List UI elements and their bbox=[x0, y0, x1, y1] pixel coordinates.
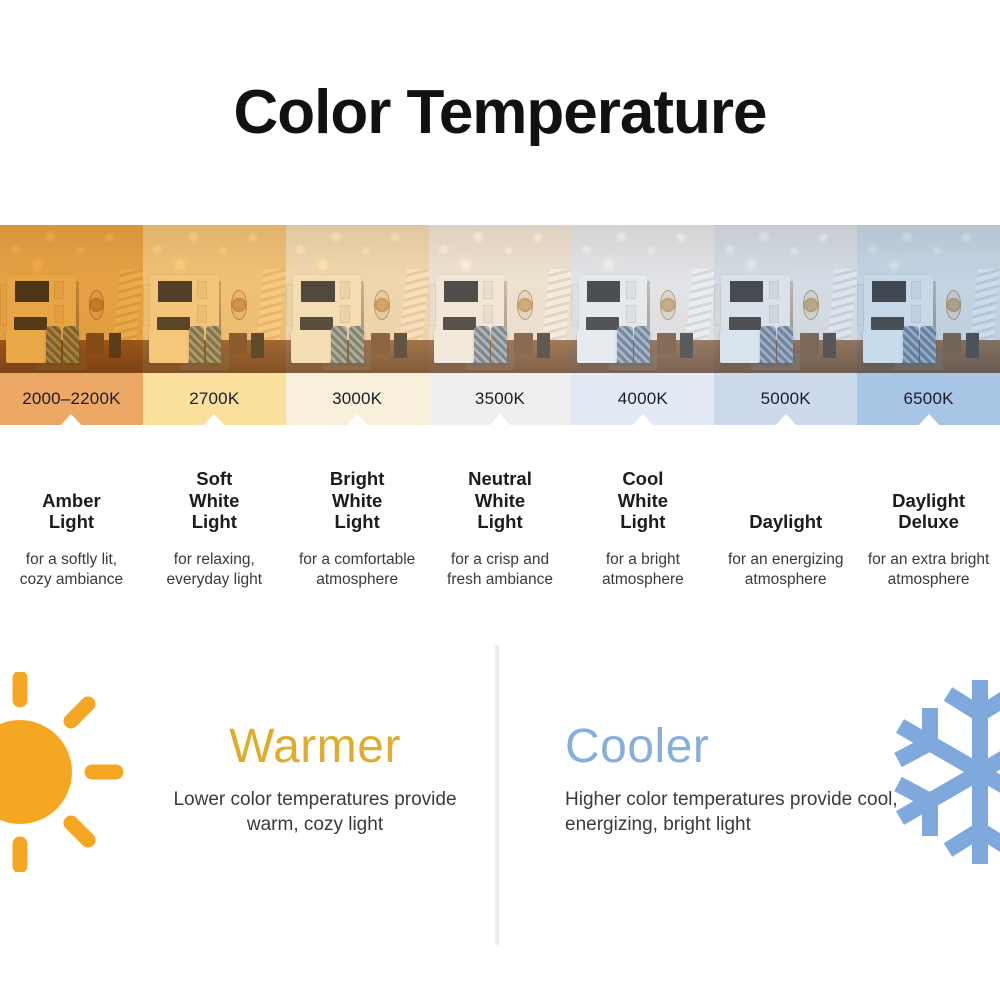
light-type-name-line: White bbox=[294, 490, 421, 512]
room-photo-5000K bbox=[714, 225, 857, 373]
light-type-name: AmberLight bbox=[8, 455, 135, 533]
room-photo-3000K bbox=[286, 225, 429, 373]
light-type-name-line: Light bbox=[294, 511, 421, 533]
light-type-name-line: Amber bbox=[8, 490, 135, 512]
light-type-description: for an energizing atmosphere bbox=[722, 550, 849, 590]
light-type-name: BrightWhiteLight bbox=[294, 455, 421, 533]
light-type-name-line: Cool bbox=[579, 468, 706, 490]
light-type-description: for a crisp and fresh ambiance bbox=[437, 550, 564, 590]
photo-light-overlay bbox=[0, 225, 143, 373]
kelvin-swatch-3000K[interactable]: 3000K bbox=[286, 373, 429, 425]
kelvin-swatch-3500K[interactable]: 3500K bbox=[429, 373, 572, 425]
light-type-name-line: Daylight bbox=[722, 511, 849, 533]
kelvin-label: 5000K bbox=[761, 389, 811, 409]
photo-light-overlay bbox=[429, 225, 572, 373]
swatch-pointer-notch bbox=[489, 414, 511, 426]
room-photo-6500K bbox=[857, 225, 1000, 373]
light-type-name-line: White bbox=[151, 490, 278, 512]
light-type-description: for an extra bright atmosphere bbox=[865, 550, 992, 590]
light-type-name: SoftWhiteLight bbox=[151, 455, 278, 533]
swatch-pointer-notch bbox=[775, 414, 797, 426]
room-photo-20002200K bbox=[0, 225, 143, 373]
warmer-heading: Warmer bbox=[150, 722, 480, 772]
warmer-summary: Warmer Lower color temperatures provide … bbox=[150, 722, 480, 838]
room-photo-3500K bbox=[429, 225, 572, 373]
light-type-name-line: Daylight bbox=[865, 490, 992, 512]
kelvin-swatch-2700K[interactable]: 2700K bbox=[143, 373, 286, 425]
cooler-text: Higher color temperatures provide cool, … bbox=[565, 788, 910, 837]
description-column-5000K: Daylightfor an energizing atmosphere bbox=[714, 455, 857, 630]
kelvin-swatch-5000K[interactable]: 5000K bbox=[714, 373, 857, 425]
light-type-description: for a softly lit, cozy ambiance bbox=[8, 550, 135, 590]
light-type-name-line: Light bbox=[8, 511, 135, 533]
kelvin-swatch-6500K[interactable]: 6500K bbox=[857, 373, 1000, 425]
light-type-name: NeutralWhiteLight bbox=[437, 455, 564, 533]
photo-light-overlay bbox=[714, 225, 857, 373]
kelvin-swatch-20002200K[interactable]: 2000–2200K bbox=[0, 373, 143, 425]
kelvin-label: 4000K bbox=[618, 389, 668, 409]
light-type-description: for relaxing, everyday light bbox=[151, 550, 278, 590]
warmer-text: Lower color temperatures provide warm, c… bbox=[150, 788, 480, 837]
page-header: Color Temperature bbox=[0, 82, 1000, 144]
swatch-pointer-notch bbox=[203, 414, 225, 426]
description-column-6500K: DaylightDeluxefor an extra bright atmosp… bbox=[857, 455, 1000, 630]
light-type-name-line: Neutral bbox=[437, 468, 564, 490]
kelvin-label: 2700K bbox=[189, 389, 239, 409]
light-type-name: CoolWhiteLight bbox=[579, 455, 706, 533]
vertical-divider bbox=[495, 645, 499, 945]
description-column-4000K: CoolWhiteLightfor a bright atmosphere bbox=[571, 455, 714, 630]
light-type-name: Daylight bbox=[722, 455, 849, 533]
swatch-pointer-notch bbox=[346, 414, 368, 426]
kelvin-label: 3000K bbox=[332, 389, 382, 409]
cooler-summary: Cooler Higher color temperatures provide… bbox=[565, 722, 910, 838]
kelvin-label: 3500K bbox=[475, 389, 525, 409]
light-type-description: for a bright atmosphere bbox=[579, 550, 706, 590]
light-type-name-line: Light bbox=[437, 511, 564, 533]
page-title: Color Temperature bbox=[0, 82, 1000, 144]
light-type-name: DaylightDeluxe bbox=[865, 455, 992, 533]
light-type-name-line: Deluxe bbox=[865, 511, 992, 533]
light-type-name-line: Light bbox=[151, 511, 278, 533]
photo-light-overlay bbox=[286, 225, 429, 373]
light-type-name-line: White bbox=[437, 490, 564, 512]
kelvin-swatch-4000K[interactable]: 4000K bbox=[571, 373, 714, 425]
swatch-pointer-notch bbox=[918, 414, 940, 426]
room-photo-4000K bbox=[571, 225, 714, 373]
description-column-3000K: BrightWhiteLightfor a comfortable atmosp… bbox=[286, 455, 429, 630]
light-type-name-line: Soft bbox=[151, 468, 278, 490]
kelvin-label: 2000–2200K bbox=[22, 389, 120, 409]
cooler-heading: Cooler bbox=[565, 722, 910, 772]
room-photo-strip bbox=[0, 225, 1000, 373]
description-column-20002200K: AmberLightfor a softly lit, cozy ambianc… bbox=[0, 455, 143, 630]
description-column-3500K: NeutralWhiteLightfor a crisp and fresh a… bbox=[429, 455, 572, 630]
photo-light-overlay bbox=[857, 225, 1000, 373]
swatch-pointer-notch bbox=[60, 414, 82, 426]
light-type-name-line: Bright bbox=[294, 468, 421, 490]
kelvin-label: 6500K bbox=[904, 389, 954, 409]
description-column-2700K: SoftWhiteLightfor relaxing, everyday lig… bbox=[143, 455, 286, 630]
light-type-name-line: White bbox=[579, 490, 706, 512]
light-type-name-line: Light bbox=[579, 511, 706, 533]
sun-icon bbox=[0, 672, 148, 872]
swatch-pointer-notch bbox=[632, 414, 654, 426]
photo-light-overlay bbox=[571, 225, 714, 373]
light-type-description: for a comfortable atmosphere bbox=[294, 550, 421, 590]
description-band: AmberLightfor a softly lit, cozy ambianc… bbox=[0, 455, 1000, 630]
kelvin-swatch-band: 2000–2200K2700K3000K3500K4000K5000K6500K bbox=[0, 373, 1000, 425]
room-photo-2700K bbox=[143, 225, 286, 373]
photo-light-overlay bbox=[143, 225, 286, 373]
